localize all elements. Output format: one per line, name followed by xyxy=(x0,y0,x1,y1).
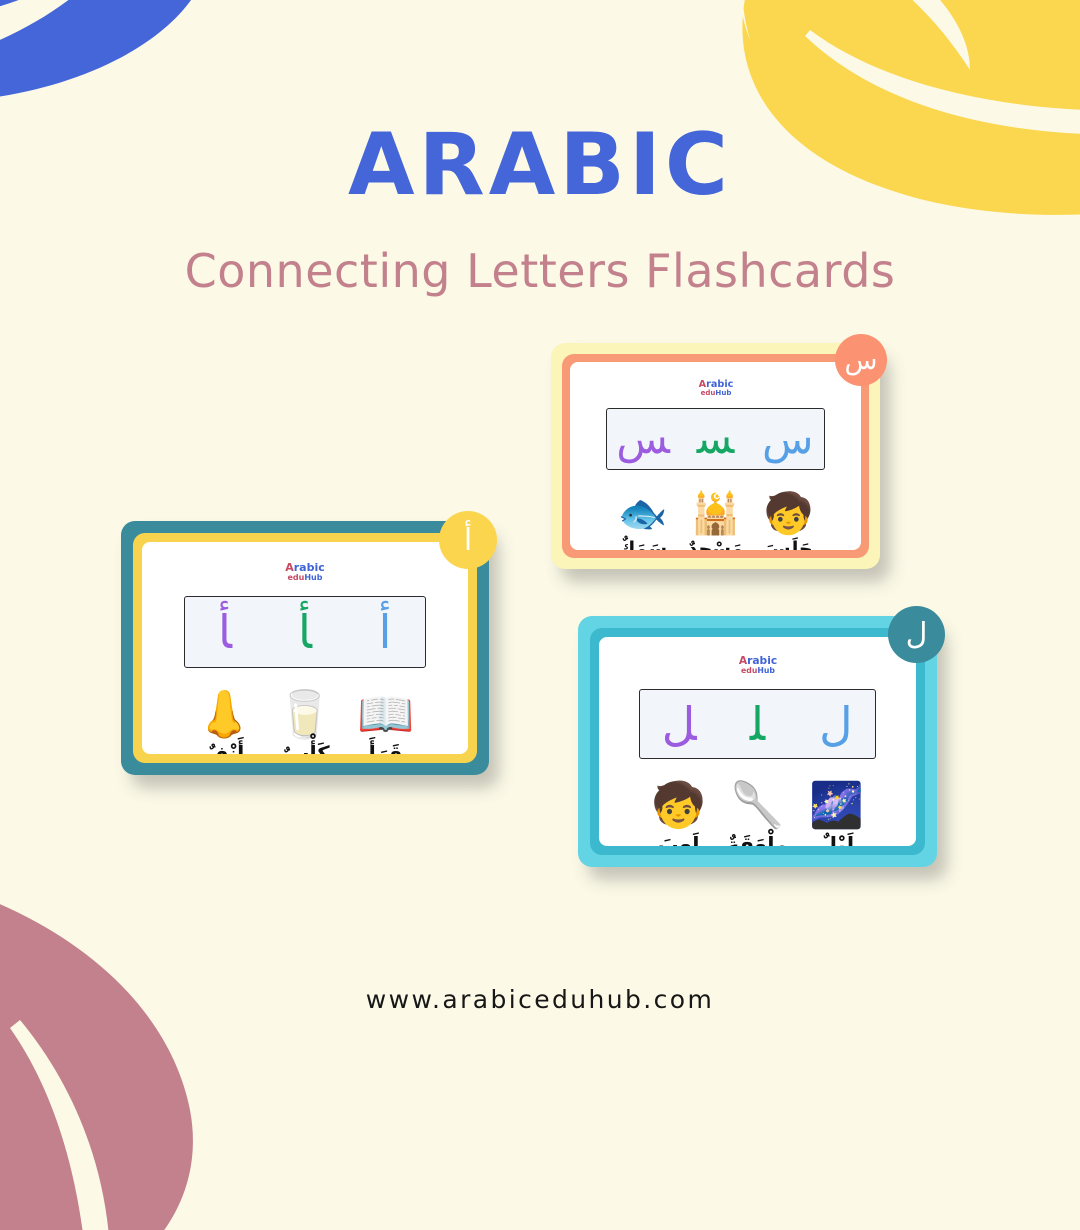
logo-line-1: Arabic xyxy=(738,655,776,666)
letter-form-medial-lam: ﻠ xyxy=(718,701,796,747)
footer-url: www.arabiceduhub.com xyxy=(0,985,1080,1014)
logo-edu-text: edu xyxy=(741,666,757,675)
child-playing-icon: 🧒 xyxy=(639,784,718,832)
letter-form-final-alef: ﺄ xyxy=(185,609,265,655)
brand-logo: ArabiceduHub xyxy=(738,655,776,674)
rose-brush-bottom-left xyxy=(0,830,290,1230)
flashcard-inner-frame-alef: ArabiceduHubﺃﺄﺄ📖قَرَأَRead🥛كَأْسٌGlass👃أ… xyxy=(133,533,477,763)
word-arabic: لَيْلٌ xyxy=(797,832,876,846)
word-cell: 👃أَنْفٌNose xyxy=(184,691,265,754)
letter-form-final-seen: ﺲ xyxy=(607,418,679,460)
letter-form-final-lam: ﻞ xyxy=(640,701,718,747)
logo-line-2: eduHub xyxy=(698,390,733,397)
logo-hub-text: Hub xyxy=(757,666,775,675)
logo-edu-text: edu xyxy=(700,389,715,397)
flashcard-face-lam: ArabiceduHubﻝﻠﻞ🌌لَيْلٌNight🥄مِلْعَقَةٌSp… xyxy=(599,637,916,846)
letter-form-initial-seen: ﺱ xyxy=(752,418,824,460)
word-arabic: قَرَأَ xyxy=(345,741,426,754)
word-cell: 🧒لَعِبَPlay xyxy=(639,784,718,846)
flashcard-alef[interactable]: ArabiceduHubﺃﺄﺄ📖قَرَأَRead🥛كَأْسٌGlass👃أ… xyxy=(121,521,489,775)
brand-logo: ArabiceduHub xyxy=(285,562,325,582)
letter-forms-strip-seen: ﺱﺴﺲ xyxy=(606,408,825,470)
mosque-icon: 🕌 xyxy=(679,494,752,538)
logo-hub-text: Hub xyxy=(715,389,731,397)
letter-form-medial-alef: ﺄ xyxy=(265,609,345,655)
word-cell: 🌌لَيْلٌNight xyxy=(797,784,876,846)
word-arabic: لَعِبَ xyxy=(639,832,718,846)
glass-of-water-icon: 🥛 xyxy=(265,691,346,741)
letter-badge-alef-hamza: أ xyxy=(439,511,497,569)
word-examples-lam: 🌌لَيْلٌNight🥄مِلْعَقَةٌSpoon🧒لَعِبَPlay xyxy=(639,773,876,846)
poster-header: ARABIC Connecting Letters Flashcards xyxy=(0,120,1080,298)
page-subtitle: Connecting Letters Flashcards xyxy=(0,244,1080,298)
letter-form-initial-lam: ﻝ xyxy=(797,701,875,747)
logo-edu-text: edu xyxy=(288,573,305,582)
word-cell: 📖قَرَأَRead xyxy=(345,691,426,754)
letter-badge-lam: ل xyxy=(888,606,945,663)
word-arabic: كَأْسٌ xyxy=(265,741,346,754)
word-cell: 🥄مِلْعَقَةٌSpoon xyxy=(718,784,797,846)
letter-form-initial-alef: ﺃ xyxy=(345,609,425,655)
logo-line-2: eduHub xyxy=(285,574,325,582)
word-cell: 🕌مَسْجِدٌMosque xyxy=(679,494,752,550)
word-arabic: جَلَسَ xyxy=(752,538,825,550)
fish-icon: 🐟 xyxy=(606,494,679,538)
boy-sitting-icon: 🧒 xyxy=(752,494,825,538)
spoon-icon: 🥄 xyxy=(718,784,797,832)
logo-line-1: Arabic xyxy=(698,379,733,389)
word-examples-seen: 🧒جَلَسَSit🕌مَسْجِدٌMosque🐟سَمَكٌFish xyxy=(606,482,825,550)
word-arabic: مِلْعَقَةٌ xyxy=(718,832,797,846)
flashcard-seen[interactable]: ArabiceduHubﺱﺴﺲ🧒جَلَسَSit🕌مَسْجِدٌMosque… xyxy=(551,343,880,569)
night-sky-icon: 🌌 xyxy=(797,784,876,832)
logo-line-2: eduHub xyxy=(738,667,776,675)
word-arabic: مَسْجِدٌ xyxy=(679,538,752,550)
flashcard-inner-frame-seen: ArabiceduHubﺱﺴﺲ🧒جَلَسَSit🕌مَسْجِدٌMosque… xyxy=(562,354,869,558)
brand-logo: ArabiceduHub xyxy=(698,379,733,397)
letter-form-medial-seen: ﺴ xyxy=(679,418,751,460)
flashcard-lam[interactable]: ArabiceduHubﻝﻠﻞ🌌لَيْلٌNight🥄مِلْعَقَةٌSp… xyxy=(578,616,937,867)
page-title: ARABIC xyxy=(0,120,1080,210)
flashcard-face-alef: ArabiceduHubﺃﺄﺄ📖قَرَأَRead🥛كَأْسٌGlass👃أ… xyxy=(142,542,468,754)
logo-hub-text: Hub xyxy=(304,573,322,582)
letter-forms-strip-lam: ﻝﻠﻞ xyxy=(639,689,876,759)
word-cell: 🥛كَأْسٌGlass xyxy=(265,691,346,754)
child-reading-icon: 📖 xyxy=(345,691,426,741)
nose-icon: 👃 xyxy=(184,691,265,741)
poster-canvas: ARABIC Connecting Letters Flashcards Ara… xyxy=(0,0,1080,1080)
word-examples-alef: 📖قَرَأَRead🥛كَأْسٌGlass👃أَنْفٌNose xyxy=(184,682,426,754)
flashcard-inner-frame-lam: ArabiceduHubﻝﻠﻞ🌌لَيْلٌNight🥄مِلْعَقَةٌSp… xyxy=(590,628,925,855)
word-arabic: أَنْفٌ xyxy=(184,741,265,754)
word-cell: 🧒جَلَسَSit xyxy=(752,494,825,550)
letter-forms-strip-alef: ﺃﺄﺄ xyxy=(184,596,426,668)
flashcard-face-seen: ArabiceduHubﺱﺴﺲ🧒جَلَسَSit🕌مَسْجِدٌMosque… xyxy=(570,362,861,550)
logo-line-1: Arabic xyxy=(285,562,325,573)
word-arabic: سَمَكٌ xyxy=(606,538,679,550)
word-cell: 🐟سَمَكٌFish xyxy=(606,494,679,550)
letter-badge-seen: س xyxy=(835,334,887,386)
